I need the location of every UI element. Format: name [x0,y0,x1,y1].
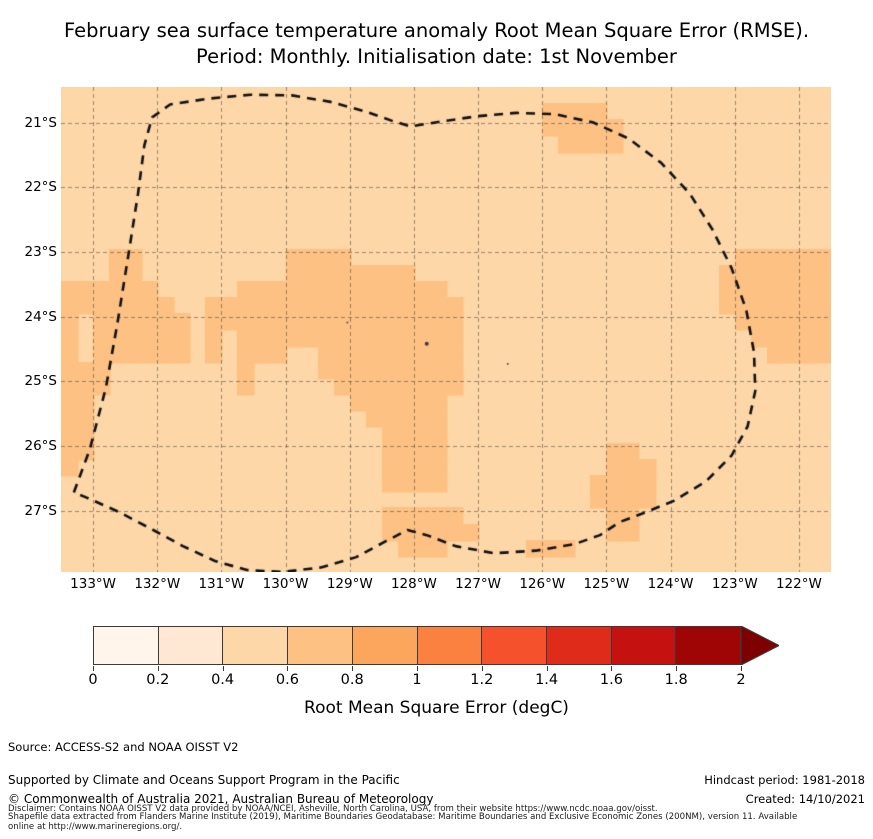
map-plot-area [61,87,831,572]
x-tick-label: 123°W [700,576,770,592]
colorbar-tick-mark [223,666,224,671]
y-tick-label: 24°S [1,309,57,325]
y-tick-label: 26°S [1,438,57,454]
colorbar-tick-label: 0.2 [133,672,183,688]
x-tick-label: 131°W [186,576,256,592]
colorbar-bands [93,626,741,665]
colorbar-tick-label: 0.4 [198,672,248,688]
colorbar-band-6 [482,627,547,664]
colorbar-band-2 [223,627,288,664]
x-tick-label: 133°W [58,576,128,592]
colorbar-band-5 [418,627,483,664]
colorbar-tick-label: 0 [68,672,118,688]
hindcast-period: Hindcast period: 1981-2018 [704,771,865,790]
x-tick-label: 125°W [571,576,641,592]
colorbar-band-4 [353,627,418,664]
colorbar-label: Root Mean Square Error (degC) [0,698,873,718]
page-title: February sea surface temperature anomaly… [0,18,873,70]
colorbar-tick-mark [93,666,94,671]
colorbar-tick-label: 1.6 [586,672,636,688]
colorbar-tick-label: 1.4 [522,672,572,688]
colorbar-tick-mark [741,666,742,671]
colorbar-tick-mark [482,666,483,671]
colorbar-tick-label: 1.2 [457,672,507,688]
disclaimer-text: Disclaimer: Contains NOAA OISST V2 data … [8,805,868,832]
colorbar-tick-mark [547,666,548,671]
colorbar-band-1 [159,627,224,664]
colorbar-tick-label: 1.8 [651,672,701,688]
colorbar-tick-label: 1 [392,672,442,688]
disclaimer-line-3: online at http://www.marineregions.org/. [8,823,868,832]
x-tick-label: 127°W [443,576,513,592]
x-tick-label: 128°W [379,576,449,592]
colorbar-tick-mark [417,666,418,671]
colorbar-tick-label: 0.8 [327,672,377,688]
x-tick-label: 126°W [507,576,577,592]
colorbar-extend-arrow [741,626,779,665]
support-line-1: Supported by Climate and Oceans Support … [8,771,433,790]
meta-text: Hindcast period: 1981-2018 Created: 14/1… [704,771,865,809]
y-tick-label: 21°S [1,115,57,131]
colorbar-ticks: 00.20.40.60.811.21.41.61.82 [93,666,741,688]
colorbar-tick-mark [676,666,677,671]
colorbar-band-3 [288,627,353,664]
y-tick-label: 25°S [1,373,57,389]
colorbar-tick-mark [158,666,159,671]
x-tick-label: 129°W [315,576,385,592]
colorbar-band-0 [94,627,159,664]
x-tick-label: 132°W [122,576,192,592]
source-text: Source: ACCESS-S2 and NOAA OISST V2 [8,740,238,754]
y-tick-label: 23°S [1,244,57,260]
colorbar: 00.20.40.60.811.21.41.61.82 Root Mean Sq… [0,616,873,716]
colorbar-band-9 [676,627,740,664]
colorbar-tick-mark [611,666,612,671]
colorbar-tick-label: 2 [716,672,766,688]
colorbar-band-8 [612,627,677,664]
colorbar-tick-mark [352,666,353,671]
x-tick-label: 122°W [764,576,834,592]
y-axis-ticks: 21°S22°S23°S24°S25°S26°S27°S [0,87,57,572]
y-tick-label: 22°S [1,179,57,195]
x-axis-ticks: 133°W132°W131°W130°W129°W128°W127°W126°W… [61,576,831,600]
x-tick-label: 124°W [636,576,706,592]
colorbar-tick-mark [287,666,288,671]
x-tick-label: 130°W [251,576,321,592]
y-tick-label: 27°S [1,503,57,519]
colorbar-band-7 [547,627,612,664]
colorbar-tick-label: 0.6 [262,672,312,688]
eez-boundary-line [61,87,831,572]
